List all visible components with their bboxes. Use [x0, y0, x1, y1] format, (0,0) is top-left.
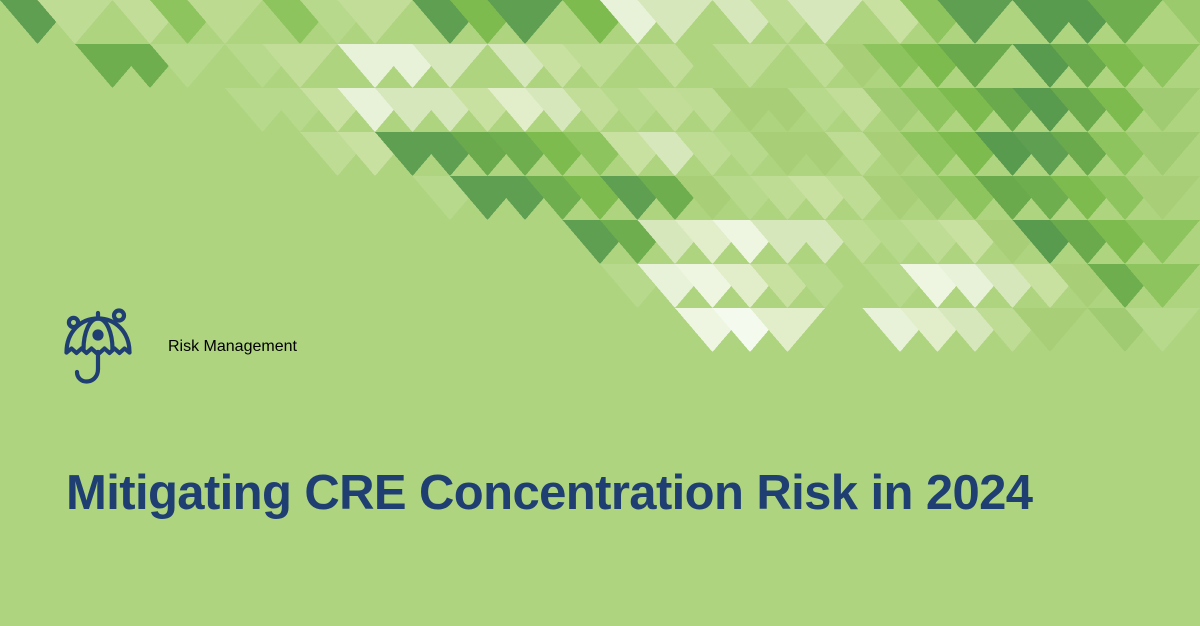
- article-hero-banner: Risk Management Mitigating CRE Concentra…: [0, 0, 1200, 626]
- page-title: Mitigating CRE Concentration Risk in 202…: [66, 465, 1176, 523]
- category-eyebrow: Risk Management: [62, 305, 297, 389]
- umbrella-icon: [62, 305, 146, 389]
- category-label: Risk Management: [168, 338, 297, 356]
- hero-content: Risk Management Mitigating CRE Concentra…: [0, 0, 1200, 626]
